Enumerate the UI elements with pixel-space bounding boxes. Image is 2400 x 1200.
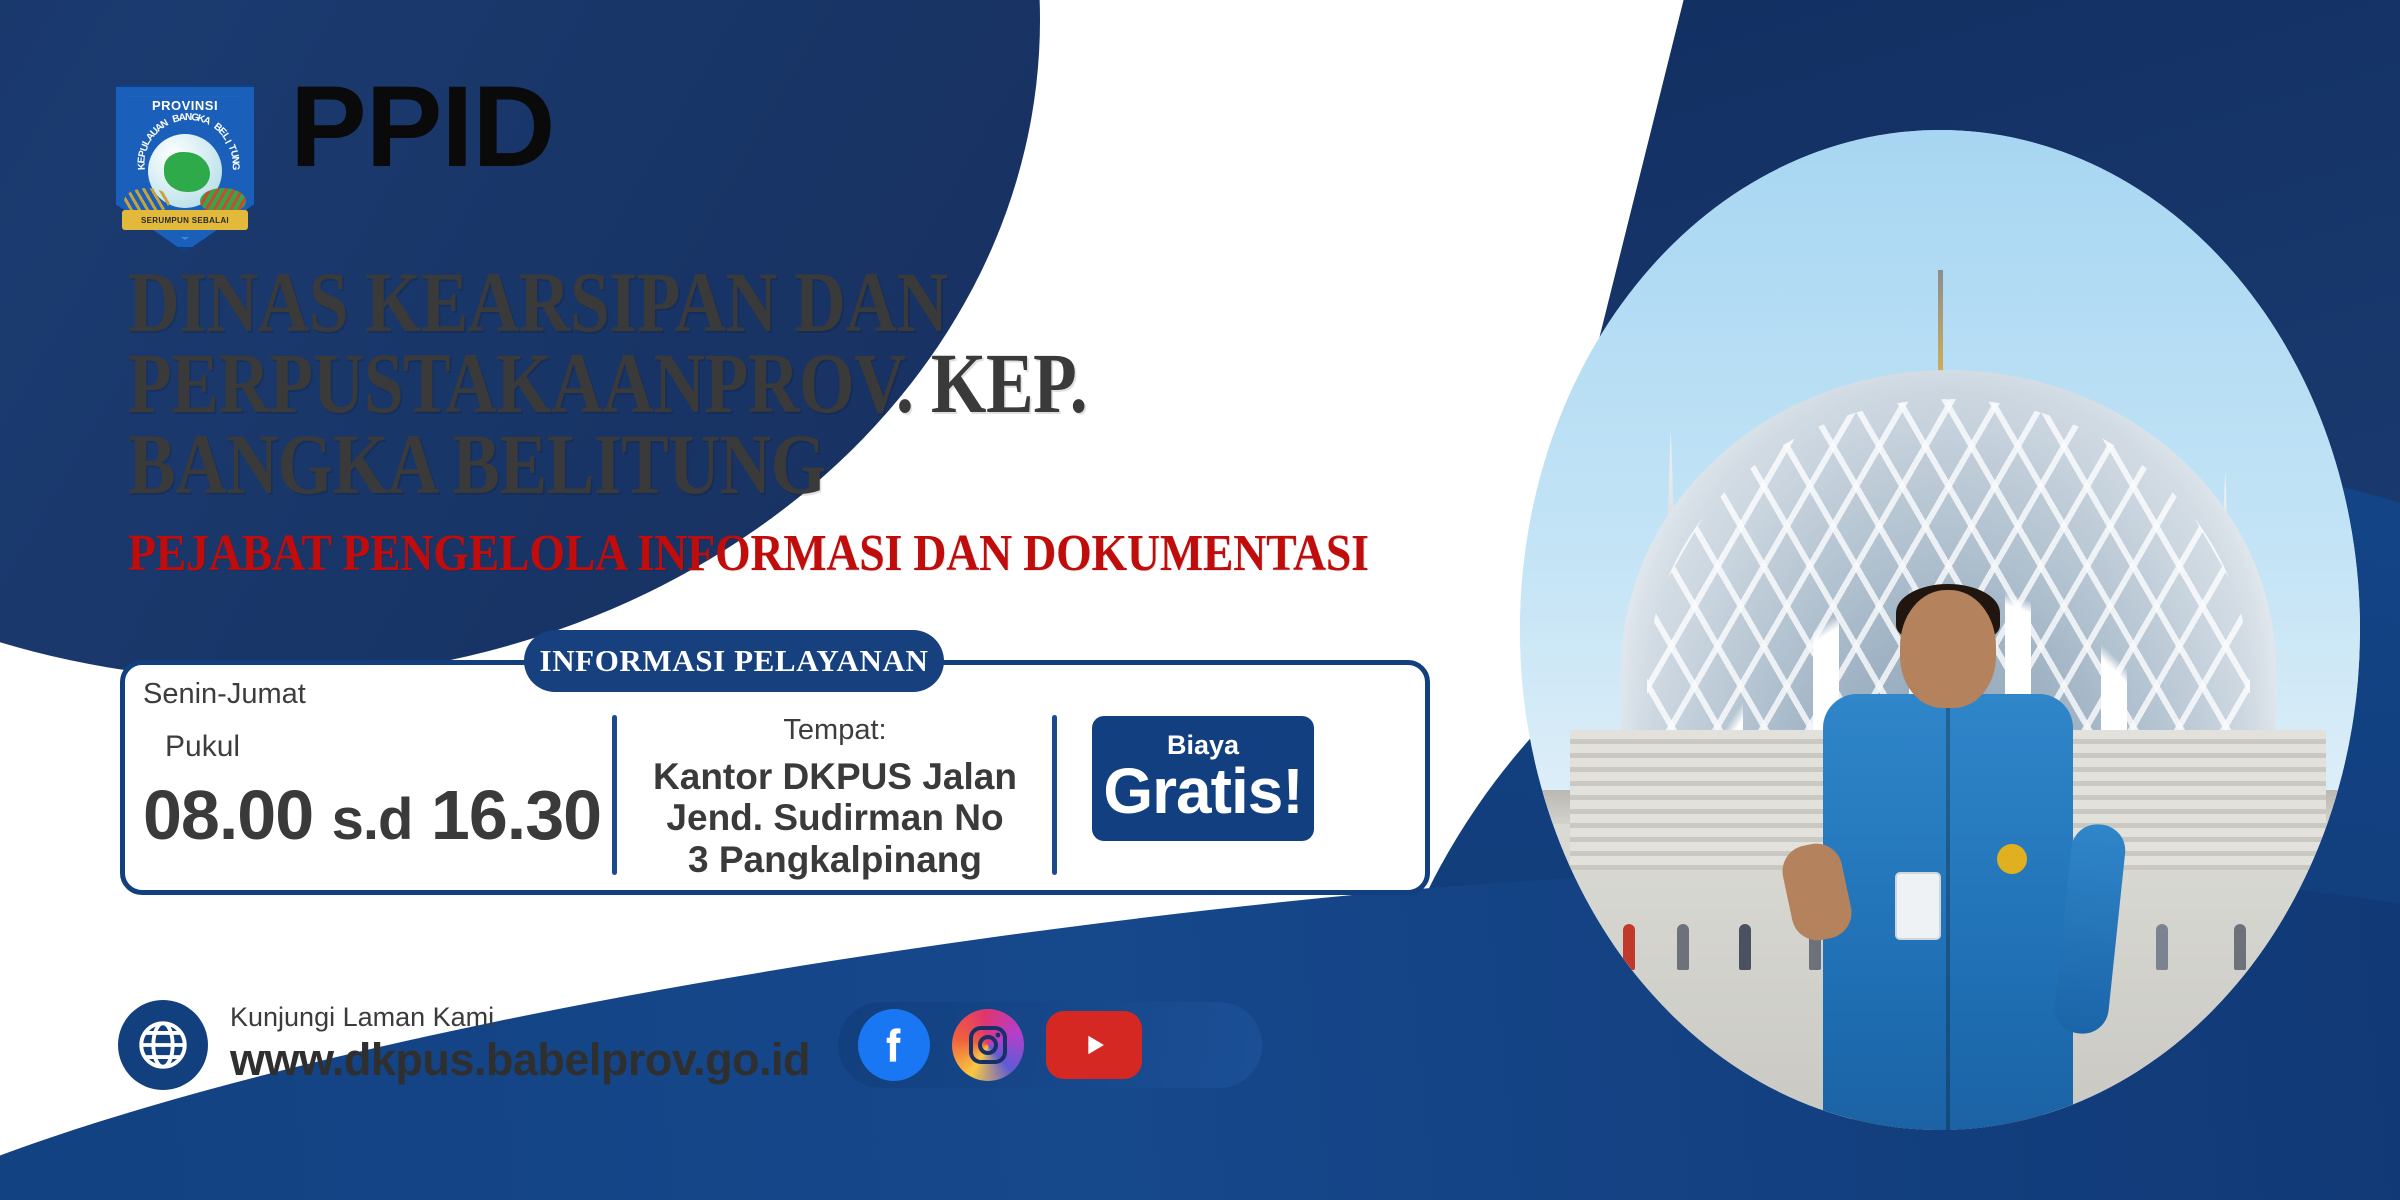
time-separator: s.d (332, 787, 413, 852)
crest-top-text: PROVINSI (110, 98, 260, 113)
page-subtitle: PEJABAT PENGELOLA INFORMASI DAN DOKUMENT… (128, 524, 1448, 583)
place-line-3: 3 Pangkalpinang (625, 839, 1045, 880)
place-label: Tempat: (625, 714, 1045, 747)
place-value: Kantor DKPUS Jalan Jend. Sudirman No 3 P… (625, 756, 1045, 880)
organization-line-2: PERPUSTAKAANPROV. KEP. (128, 343, 1315, 424)
crest-arc-char: G (230, 162, 241, 170)
youtube-icon[interactable] (1046, 1011, 1142, 1079)
organization-line-3: BANGKA BELITUNG (128, 424, 1315, 505)
time-end: 16.30 (431, 776, 601, 854)
officer-portrait (1806, 590, 2092, 1130)
page-title: PPID (290, 70, 554, 185)
globe-icon (118, 1000, 208, 1090)
poster-canvas: PROVINSI KEPULAUAN BANGKA BELITUNG SERUM… (0, 0, 2400, 1200)
place-line-1: Kantor DKPUS Jalan (625, 756, 1045, 797)
service-days: Senin-Jumat (143, 678, 306, 711)
website-link[interactable]: www.dkpus.babelprov.go.id (230, 1034, 810, 1086)
officer-head (1900, 590, 1996, 708)
time-start: 08.00 (143, 776, 313, 854)
visit-label: Kunjungi Laman Kami (230, 1002, 494, 1033)
social-links-bar (838, 1002, 1262, 1088)
provincial-crest-icon: PROVINSI KEPULAUAN BANGKA BELITUNG SERUM… (110, 82, 260, 252)
crest-ribbon-text: SERUMPUN SEBALAI (141, 216, 229, 225)
photo-oval (1520, 130, 2360, 1130)
instagram-icon[interactable] (952, 1009, 1024, 1081)
service-hours: 08.00 s.d 16.30 (143, 775, 601, 855)
organization-name: DINAS KEARSIPAN DAN PERPUSTAKAANPROV. KE… (128, 262, 1315, 504)
panel-divider-right (1052, 715, 1057, 875)
officer-id-card (1895, 872, 1941, 940)
service-info-badge: INFORMASI PELAYANAN (524, 630, 944, 692)
officer-emblem (1997, 844, 2027, 874)
service-time-label: Pukul (165, 730, 240, 764)
organization-line-1: DINAS KEARSIPAN DAN (128, 262, 1315, 343)
crest-ribbon: SERUMPUN SEBALAI (122, 210, 248, 230)
officer-shirt (1823, 694, 2073, 1130)
fee-value: Gratis! (1103, 759, 1302, 824)
place-line-2: Jend. Sudirman No (625, 797, 1045, 838)
service-info-badge-label: INFORMASI PELAYANAN (540, 643, 929, 679)
panel-divider-left (612, 715, 617, 875)
facebook-icon[interactable] (858, 1009, 930, 1081)
fee-badge: Biaya Gratis! (1092, 716, 1314, 841)
